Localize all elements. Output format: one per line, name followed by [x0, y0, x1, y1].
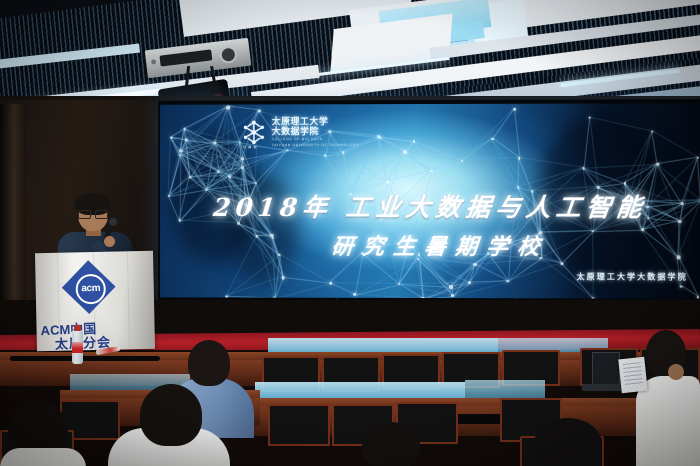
logo-english-line1: COLLEGE OF BIG DATA [272, 137, 360, 142]
screen-footer-text: 太原理工大学大数据学院 [577, 271, 688, 282]
laptop-screen [592, 352, 620, 388]
water-bottle-cap [74, 325, 81, 331]
desk-inset [10, 356, 160, 361]
reader-hand [668, 364, 684, 380]
led-screen-content: CBD 太原理工大学 大数据学院 COLLEGE OF BIG DATA TAI… [160, 103, 700, 300]
screen-title-line-2: 研究生暑期学校 [160, 229, 700, 262]
avatar [140, 384, 202, 446]
speaker-hand [104, 236, 115, 247]
screen-title-block: 2018年 工业大数据与人工智能 研究生暑期学校 [160, 188, 700, 262]
logo-subtext: CBD [243, 144, 259, 149]
logo-college-name: 大数据学院 [272, 127, 360, 136]
logo-university-name: 太原理工大学 [272, 117, 360, 126]
microphone-head-icon [109, 218, 117, 226]
snowflake-network-logo-icon: CBD [241, 119, 267, 145]
booklet [618, 357, 647, 394]
avatar [188, 340, 230, 386]
conference-hall-photo: CBD 太原理工大学 大数据学院 COLLEGE OF BIG DATA TAI… [0, 0, 700, 466]
projector-vent [159, 49, 212, 66]
podium-acm-banner: acm ACM中国 太原分会 [35, 251, 155, 351]
desk-glass-panel [465, 380, 545, 398]
avatar [362, 422, 420, 466]
screen-logo-text: 太原理工大学 大数据学院 COLLEGE OF BIG DATA TAIYUAN… [272, 116, 360, 147]
avatar [534, 418, 602, 466]
logo-english-line2: TAIYUAN UNIVERSITY OF TECHNOLOGY [272, 143, 360, 148]
screen-title-line-1: 2018年 工业大数据与人工智能 [160, 188, 700, 224]
led-screen: CBD 太原理工大学 大数据学院 COLLEGE OF BIG DATA TAI… [158, 99, 700, 313]
chair [268, 404, 330, 446]
projector-indicator [151, 59, 157, 65]
list-item [0, 448, 86, 466]
screen-institution-logo: CBD 太原理工大学 大数据学院 COLLEGE OF BIG DATA TAI… [241, 116, 359, 147]
projector-lens [219, 45, 238, 64]
glasses-icon [78, 210, 108, 217]
